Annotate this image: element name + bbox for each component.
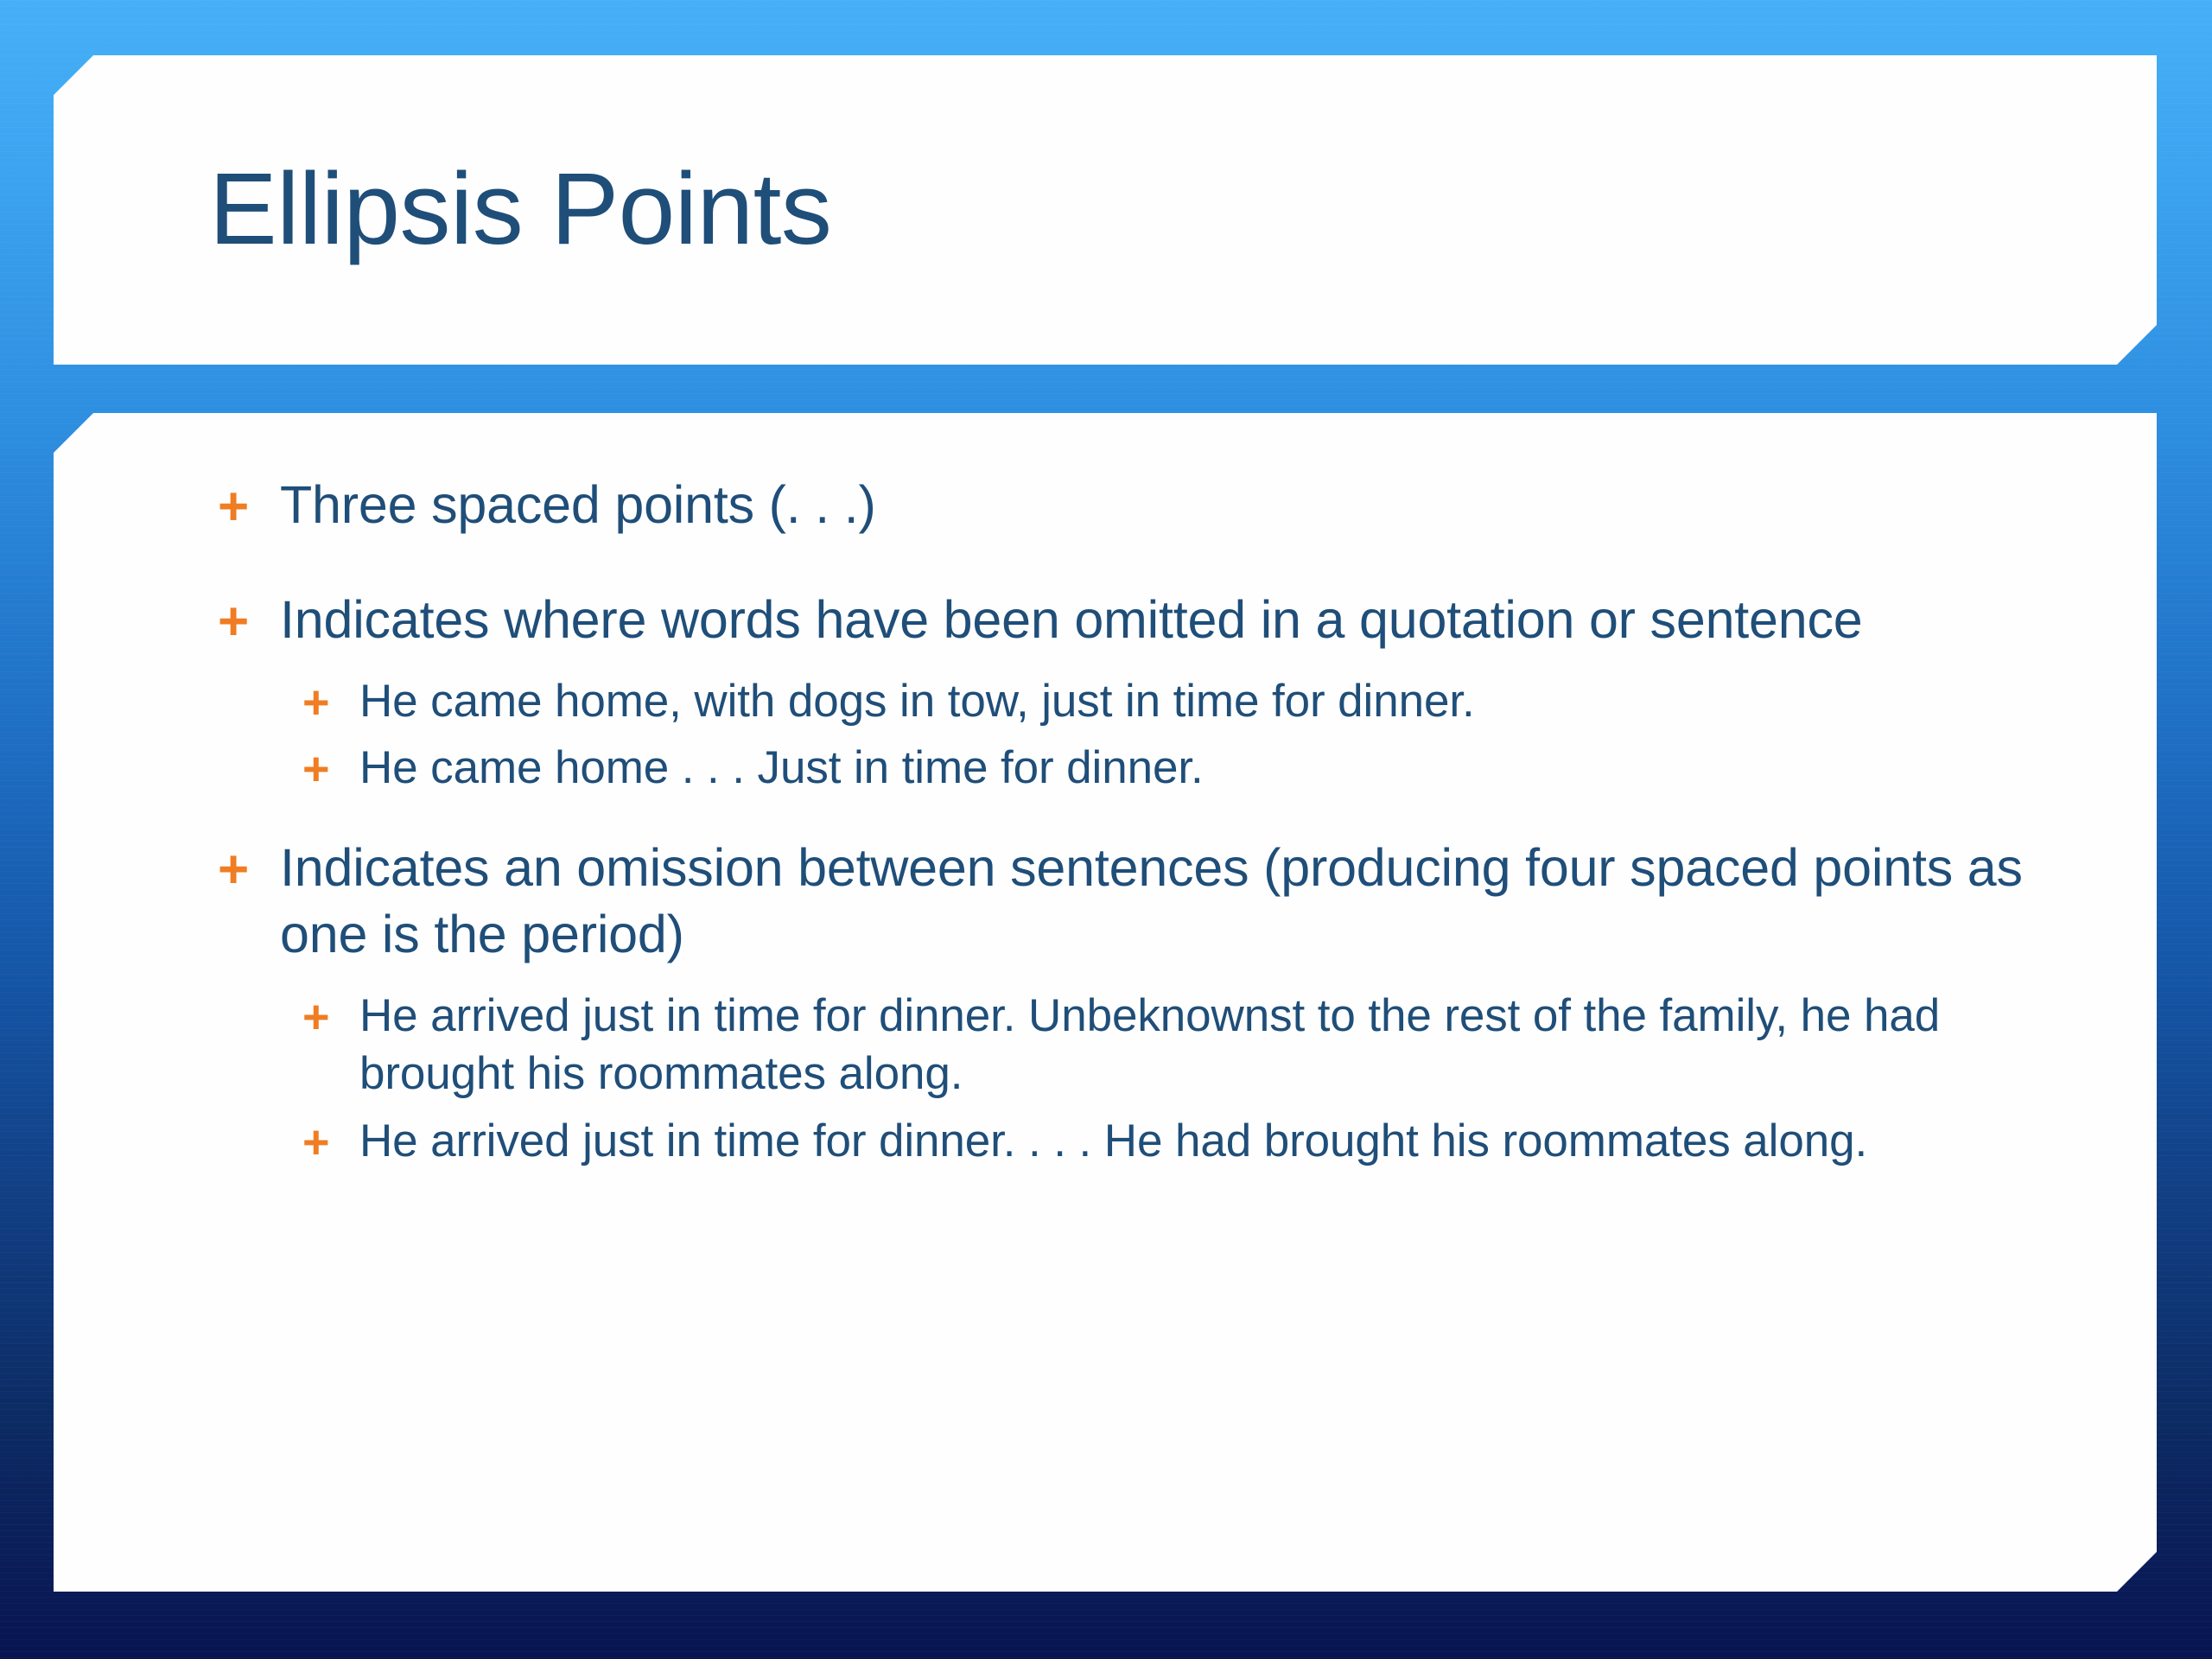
bullet-item-level2: + He came home, with dogs in tow, just i… bbox=[302, 672, 2062, 730]
bullet-item-level2: + He arrived just in time for dinner. . … bbox=[302, 1112, 2062, 1170]
bullet-item-level1: + Indicates where words have been omitte… bbox=[218, 587, 2062, 653]
plus-bullet-icon: + bbox=[302, 679, 359, 726]
bullet-text: He arrived just in time for dinner. Unbe… bbox=[359, 987, 2062, 1103]
spacer bbox=[218, 557, 2062, 587]
slide-title: Ellipsis Points bbox=[209, 150, 831, 268]
plus-bullet-icon: + bbox=[218, 595, 280, 649]
presentation-slide: Ellipsis Points + Three spaced points (.… bbox=[0, 0, 2212, 1659]
bullet-text: He came home . . . Just in time for dinn… bbox=[359, 739, 2062, 797]
bullet-item-level2: + He arrived just in time for dinner. Un… bbox=[302, 987, 2062, 1103]
spacer bbox=[218, 805, 2062, 835]
plus-bullet-icon: + bbox=[218, 480, 280, 534]
plus-bullet-icon: + bbox=[302, 994, 359, 1040]
bullet-item-level2: + He came home . . . Just in time for di… bbox=[302, 739, 2062, 797]
title-card: Ellipsis Points bbox=[54, 55, 2157, 365]
bullet-text: Indicates an omission between sentences … bbox=[280, 835, 2062, 968]
plus-bullet-icon: + bbox=[302, 746, 359, 792]
bullet-text: He arrived just in time for dinner. . . … bbox=[359, 1112, 2062, 1170]
content-card: + Three spaced points (. . .) + Indicate… bbox=[54, 413, 2157, 1592]
plus-bullet-icon: + bbox=[302, 1119, 359, 1166]
bullet-text: Three spaced points (. . .) bbox=[280, 472, 2062, 538]
plus-bullet-icon: + bbox=[218, 843, 280, 897]
bullet-item-level1: + Three spaced points (. . .) bbox=[218, 472, 2062, 538]
bullet-item-level1: + Indicates an omission between sentence… bbox=[218, 835, 2062, 968]
bullet-text: He came home, with dogs in tow, just in … bbox=[359, 672, 2062, 730]
bullet-list: + Three spaced points (. . .) + Indicate… bbox=[218, 472, 2062, 1179]
bullet-text: Indicates where words have been omitted … bbox=[280, 587, 2062, 653]
